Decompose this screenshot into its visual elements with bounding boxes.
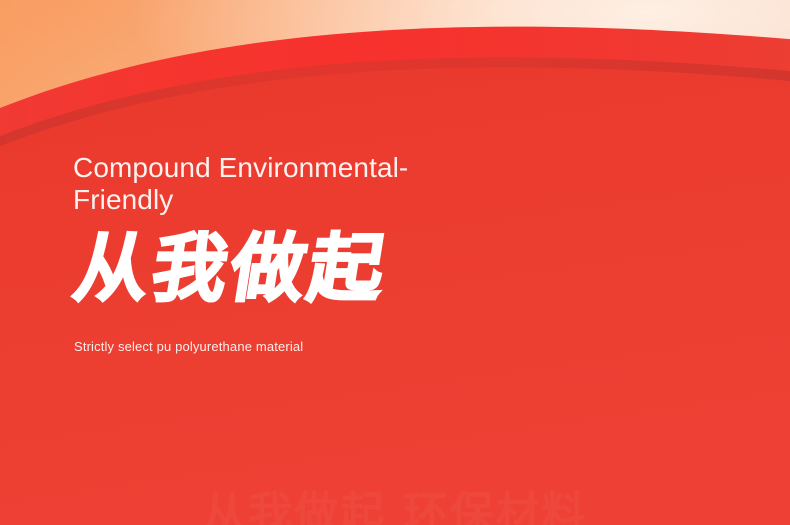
- chinese-slogan-text: 从我做起: [69, 230, 705, 308]
- headline-text: Compound Environmental- Friendly: [73, 152, 463, 216]
- subline-text: Strictly select pu polyurethane material: [74, 339, 693, 354]
- promo-banner: Compound Environmental- Friendly 从我做起 St…: [0, 0, 790, 525]
- banner-content: Compound Environmental- Friendly 从我做起 St…: [73, 152, 693, 354]
